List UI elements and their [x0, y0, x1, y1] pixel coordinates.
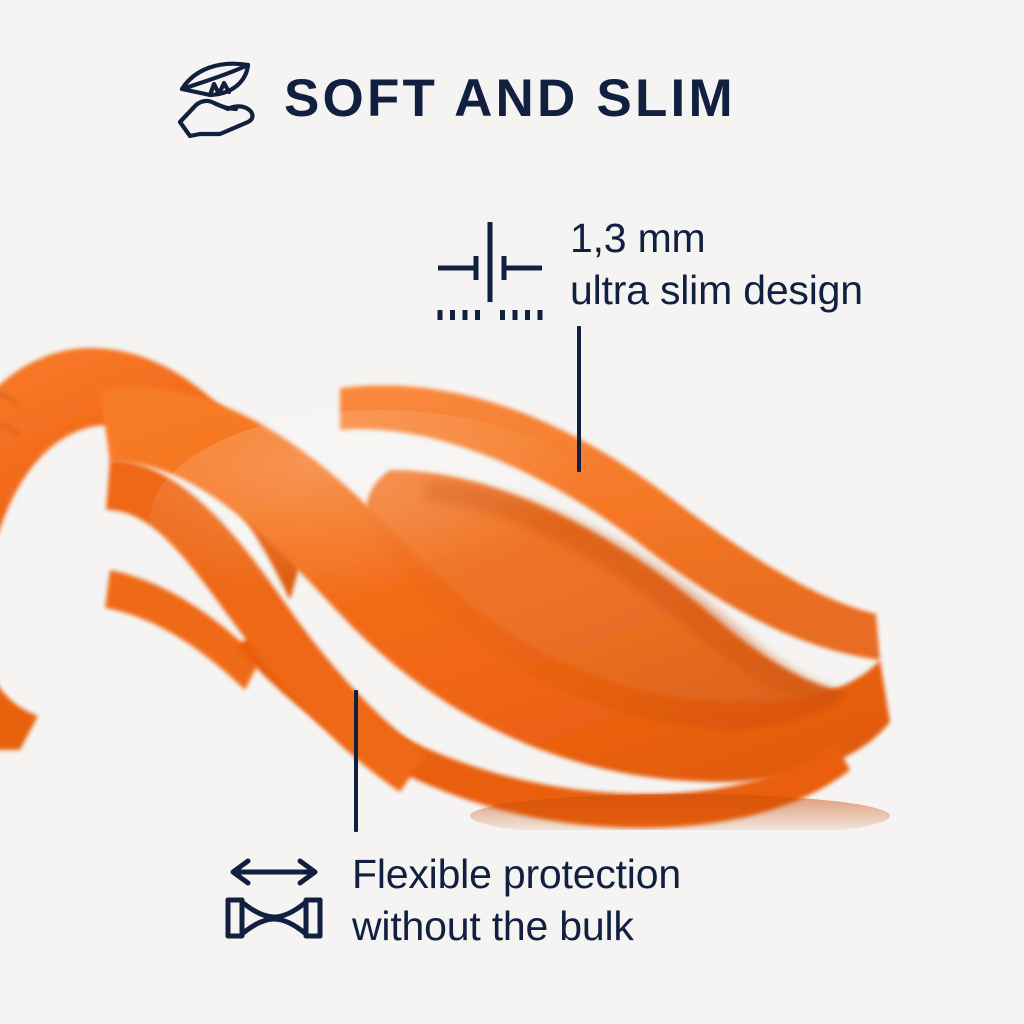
header: SOFT AND SLIM	[176, 56, 736, 140]
callout-flexible-line2: without the bulk	[352, 900, 681, 952]
callout-thickness-line1: 1,3 mm	[570, 212, 863, 264]
callout-thickness: 1,3 mm ultra slim design	[434, 212, 863, 324]
hand-feather-icon	[176, 56, 262, 140]
infographic-canvas: SOFT AND SLIM	[0, 0, 1024, 1024]
page-title: SOFT AND SLIM	[284, 72, 736, 125]
callout-thickness-text: 1,3 mm ultra slim design	[570, 212, 863, 316]
product-image	[0, 330, 920, 830]
leader-line-flexible	[354, 690, 358, 832]
thickness-measure-icon	[434, 216, 546, 324]
callout-flexible: Flexible protection without the bulk	[218, 848, 681, 952]
stretch-arrows-icon	[218, 856, 330, 942]
callout-thickness-line2: ultra slim design	[570, 264, 863, 316]
callout-flexible-line1: Flexible protection	[352, 848, 681, 900]
leader-line-thickness	[577, 326, 581, 472]
callout-flexible-text: Flexible protection without the bulk	[352, 848, 681, 952]
